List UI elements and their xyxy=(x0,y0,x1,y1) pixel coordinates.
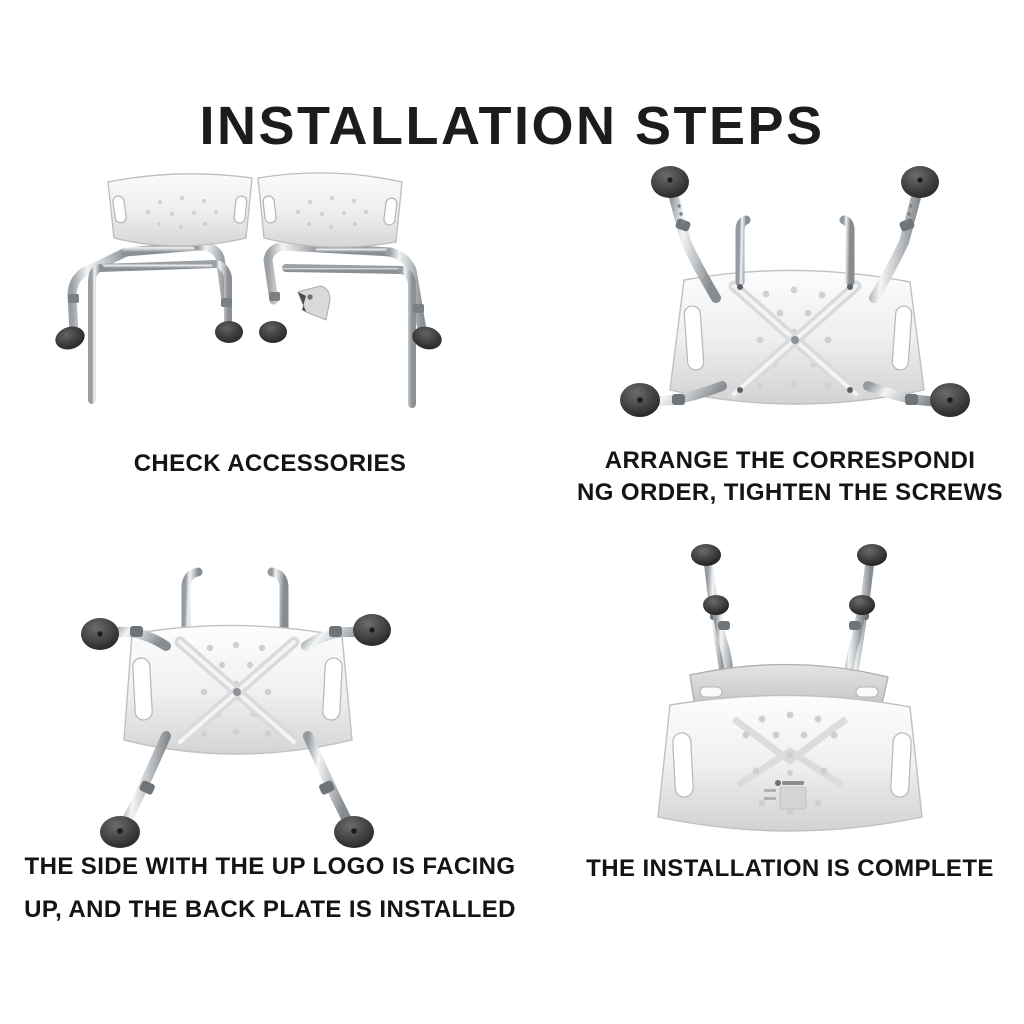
right-frame-tubes xyxy=(268,246,424,404)
completed-chair-illustration xyxy=(630,535,960,845)
caption-line: THE SIDE WITH THE UP LOGO IS FACING xyxy=(10,845,530,888)
left-frame-tubes xyxy=(68,246,232,400)
rubber-foot xyxy=(259,321,287,343)
caption-line: UP, AND THE BACK PLATE IS INSTALLED xyxy=(10,888,530,931)
caption-line: CHECK ACCESSORIES xyxy=(20,448,520,480)
steps-grid: CHECK ACCESSORIES xyxy=(0,150,1024,950)
rubber-foot xyxy=(857,544,887,566)
disassembled-parts-photo xyxy=(30,160,500,440)
leg-upper-right xyxy=(874,166,939,298)
handle-slot xyxy=(890,733,911,798)
handle-slot xyxy=(322,658,342,721)
frame-assembly-illustration xyxy=(594,150,994,435)
leg-upper-left xyxy=(651,166,716,298)
leg-upper-right xyxy=(306,614,391,646)
rubber-foot xyxy=(849,595,875,615)
leg-lower-right xyxy=(308,736,374,848)
seat-half-right xyxy=(258,173,444,404)
step-2-arrange-and-tighten: ARRANGE THE CORRESPONDI NG ORDER, TIGHTE… xyxy=(560,150,1024,550)
step-1-check-accessories: CHECK ACCESSORIES xyxy=(20,160,512,560)
rubber-foot xyxy=(691,544,721,566)
step-4-caption: THE INSTALLATION IS COMPLETE xyxy=(560,853,1020,885)
seat-with-brackets-illustration xyxy=(70,550,410,850)
step-2-caption: ARRANGE THE CORRESPONDI NG ORDER, TIGHTE… xyxy=(560,445,1020,510)
bracket-accessory xyxy=(298,286,330,320)
step-1-caption: CHECK ACCESSORIES xyxy=(20,448,520,480)
step-4-installation-complete: THE INSTALLATION IS COMPLETE xyxy=(560,535,1024,935)
page-title: INSTALLATION STEPS xyxy=(0,98,1024,155)
seat-plate xyxy=(258,173,402,247)
rubber-foot xyxy=(215,321,243,343)
completed-shower-chair-photo xyxy=(630,535,960,845)
frame-assembly-upside-down-photo xyxy=(594,150,994,435)
seat-plate xyxy=(108,174,252,246)
seat-half-left xyxy=(52,174,252,400)
handle-slot xyxy=(672,733,693,798)
backrest-slot xyxy=(856,687,878,697)
caption-line: THE INSTALLATION IS COMPLETE xyxy=(560,853,1020,885)
caption-line: ARRANGE THE CORRESPONDI xyxy=(560,445,1020,477)
leg-lower-left xyxy=(100,736,166,848)
step-3-caption: THE SIDE WITH THE UP LOGO IS FACING UP, … xyxy=(10,845,530,931)
seat-with-backrest-brackets-photo xyxy=(70,550,410,850)
handle-slot xyxy=(234,196,248,224)
disassembled-parts-illustration xyxy=(30,160,500,440)
rubber-foot xyxy=(703,595,729,615)
step-3-up-logo-and-backplate: THE SIDE WITH THE UP LOGO IS FACING UP, … xyxy=(20,540,512,940)
caption-line: NG ORDER, TIGHTEN THE SCREWS xyxy=(560,477,1020,509)
backrest-slot xyxy=(700,687,722,697)
handle-slot xyxy=(132,658,152,721)
installation-steps-page: INSTALLATION STEPS xyxy=(0,0,1024,1024)
rubber-foot xyxy=(52,323,87,353)
